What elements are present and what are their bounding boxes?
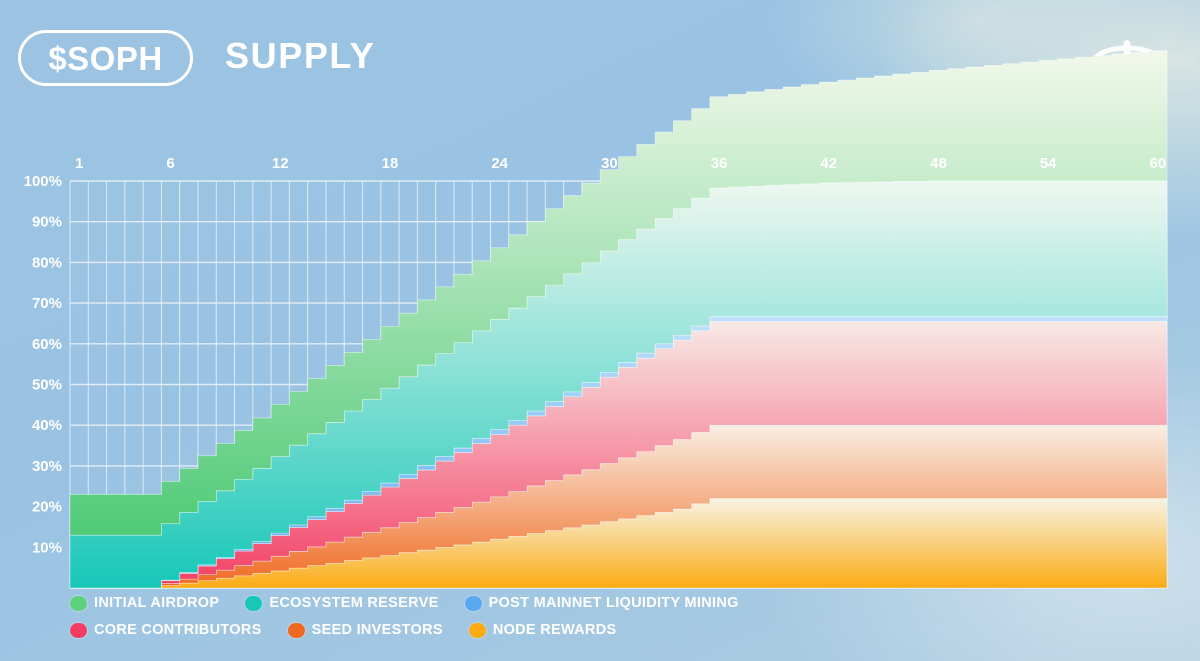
legend-label: POST MAINNET LIQUIDITY MINING (489, 595, 739, 611)
legend-row-1: INITIAL AIRDROP ECOSYSTEM RESERVE POST M… (70, 592, 1070, 614)
y-tick-label: 60% (32, 336, 62, 353)
legend-label: CORE CONTRIBUTORS (94, 622, 262, 638)
x-tick-label: 54 (1040, 155, 1057, 172)
legend-item-node-rewards[interactable]: NODE REWARDS (469, 619, 617, 641)
x-tick-label: 18 (382, 155, 399, 172)
legend-label: ECOSYSTEM RESERVE (269, 595, 438, 611)
legend-swatch-icon (465, 596, 482, 611)
y-tick-label: 80% (32, 254, 62, 271)
y-tick-label: 100% (24, 173, 62, 190)
y-tick-label: 50% (32, 377, 62, 394)
chart-canvas: 10%20%30%40%50%60%70%80%90%100% 16121824… (0, 0, 1200, 661)
legend-item-initial-airdrop[interactable]: INITIAL AIRDROP (70, 592, 219, 614)
legend-label: NODE REWARDS (493, 622, 617, 638)
legend-row-2: CORE CONTRIBUTORS SEED INVESTORS NODE RE… (70, 619, 1070, 641)
legend-item-seed-investors[interactable]: SEED INVESTORS (288, 619, 443, 641)
y-tick-label: 20% (32, 499, 62, 516)
chart-legend: INITIAL AIRDROP ECOSYSTEM RESERVE POST M… (70, 592, 1070, 641)
y-axis-labels: 10%20%30%40%50%60%70%80%90%100% (24, 173, 62, 556)
legend-item-core-contributors[interactable]: CORE CONTRIBUTORS (70, 619, 262, 641)
y-tick-label: 30% (32, 458, 62, 475)
y-tick-label: 70% (32, 295, 62, 312)
x-tick-label: 12 (272, 155, 289, 172)
legend-label: INITIAL AIRDROP (94, 595, 219, 611)
legend-swatch-icon (245, 596, 262, 611)
x-tick-label: 1 (75, 155, 83, 172)
legend-item-ecosystem-reserve[interactable]: ECOSYSTEM RESERVE (245, 592, 438, 614)
x-tick-label: 60 (1150, 155, 1167, 172)
legend-swatch-icon (469, 623, 486, 638)
y-tick-label: 40% (32, 417, 62, 434)
legend-item-post-mainnet-liquidity-mining[interactable]: POST MAINNET LIQUIDITY MINING (465, 592, 739, 614)
y-tick-label: 10% (32, 539, 62, 556)
x-tick-label: 6 (166, 155, 174, 172)
x-tick-label: 36 (711, 155, 728, 172)
x-tick-label: 24 (491, 155, 508, 172)
x-tick-label: 48 (930, 155, 947, 172)
legend-swatch-icon (288, 623, 305, 638)
x-tick-label: 30 (601, 155, 618, 172)
legend-label: SEED INVESTORS (312, 622, 443, 638)
x-tick-label: 42 (820, 155, 837, 172)
legend-swatch-icon (70, 623, 87, 638)
y-tick-label: 90% (32, 214, 62, 231)
supply-chart: 10%20%30%40%50%60%70%80%90%100% 16121824… (0, 0, 1200, 661)
legend-swatch-icon (70, 596, 87, 611)
